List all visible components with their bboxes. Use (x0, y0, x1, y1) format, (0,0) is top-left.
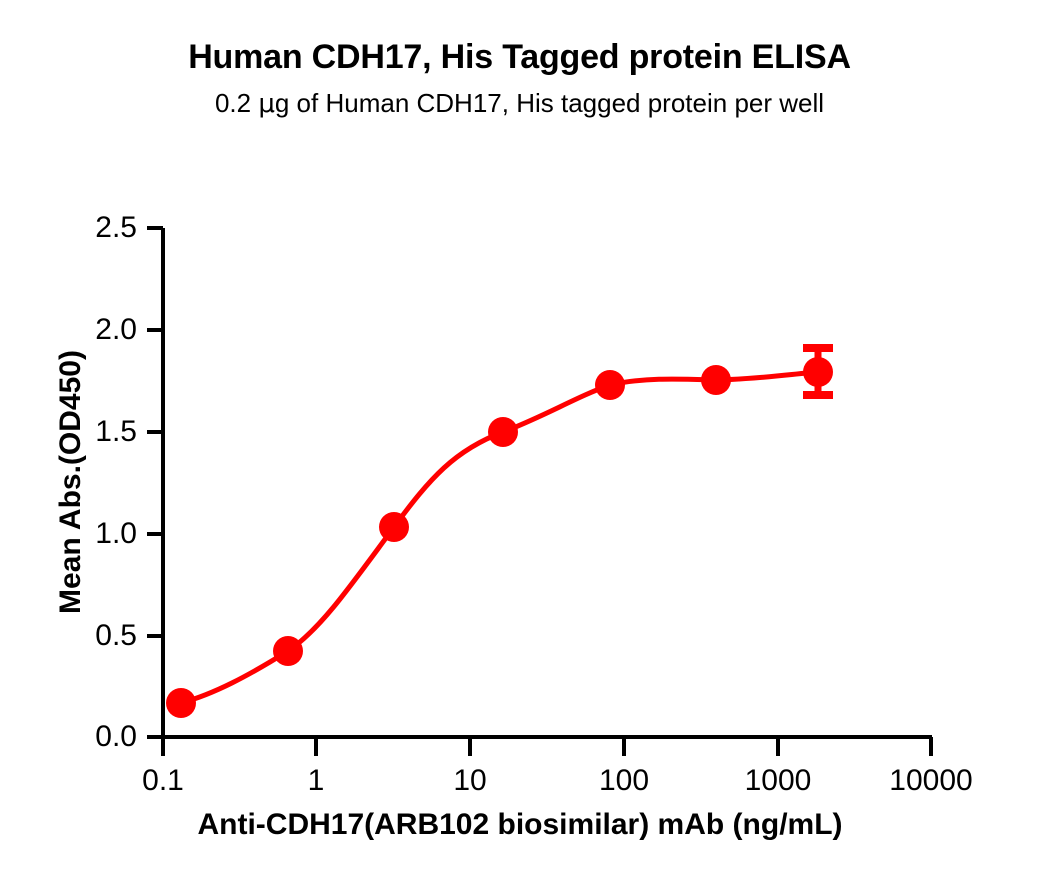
y-axis-label: Mean Abs.(OD450) (54, 272, 88, 692)
x-tick-label: 100 (599, 764, 649, 798)
x-tick-label: 1 (308, 764, 325, 798)
x-tick-label: 10000 (889, 764, 972, 798)
data-point (803, 357, 833, 387)
x-tick-label: 10 (453, 764, 486, 798)
y-axis-ticks (147, 228, 163, 737)
plot-area (0, 0, 1039, 886)
data-point (273, 636, 303, 666)
y-tick-label: 2.5 (45, 211, 137, 245)
x-axis-label: Anti-CDH17(ARB102 biosimilar) mAb (ng/mL… (60, 808, 980, 842)
y-tick-label: 0.0 (45, 720, 137, 754)
data-point (488, 417, 518, 447)
data-point (701, 365, 731, 395)
elisa-chart-figure: Human CDH17, His Tagged protein ELISA 0.… (0, 0, 1039, 886)
x-tick-label: 1000 (745, 764, 812, 798)
data-point (166, 688, 196, 718)
x-tick-label: 0.1 (142, 764, 184, 798)
data-point (379, 512, 409, 542)
data-point (595, 370, 625, 400)
x-axis-ticks (163, 737, 931, 756)
